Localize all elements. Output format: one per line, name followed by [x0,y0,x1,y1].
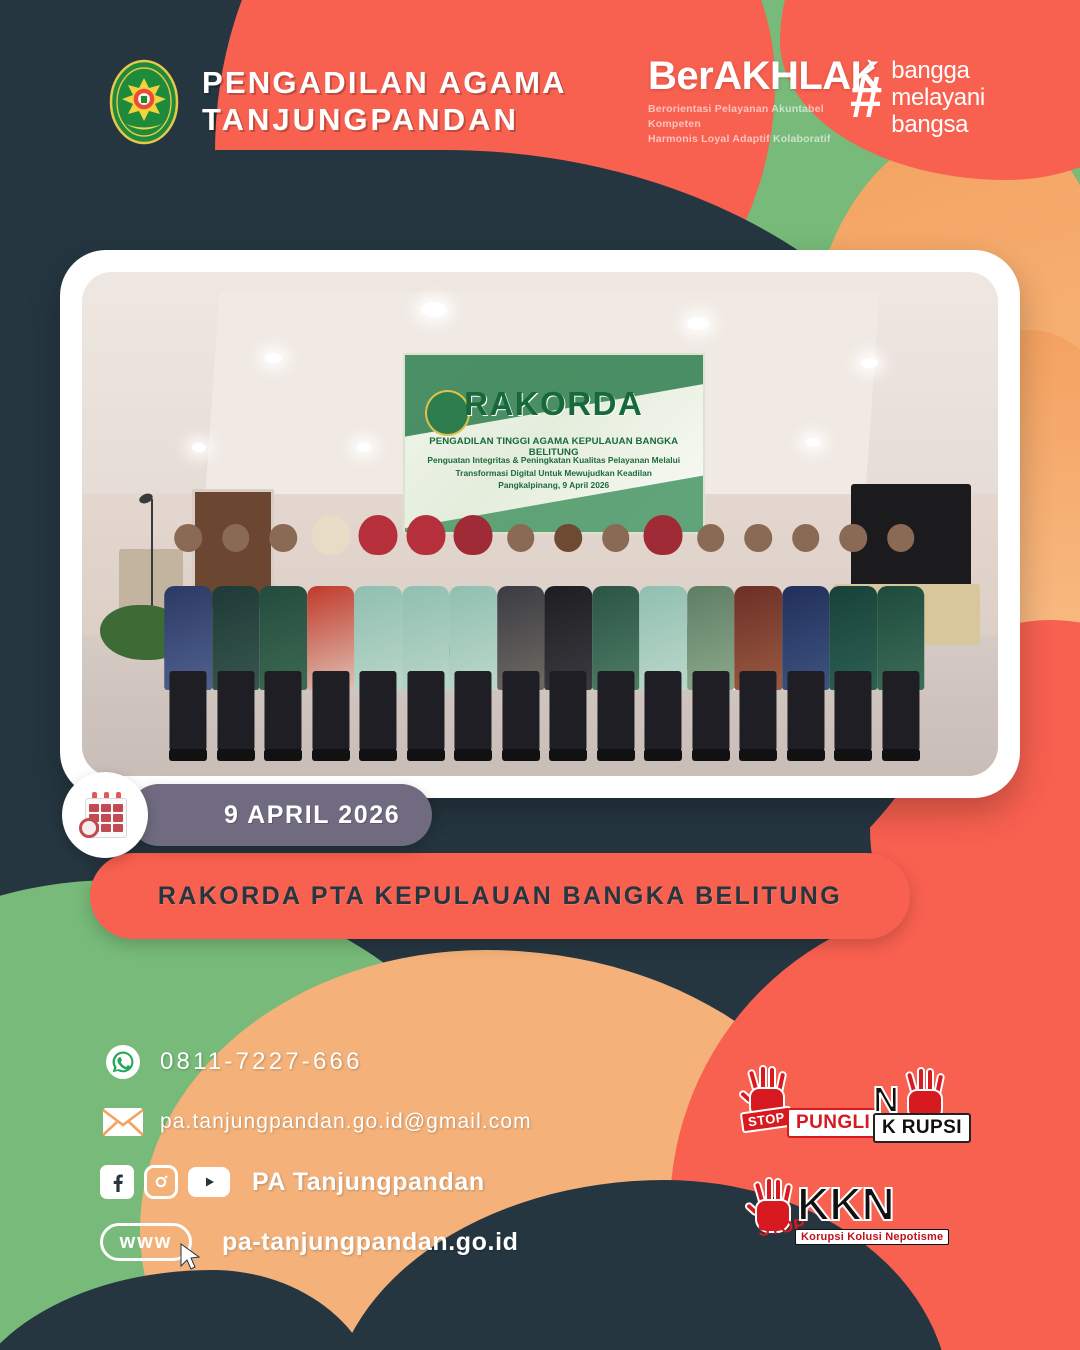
person [164,524,212,761]
whatsapp-icon [100,1043,146,1081]
person [450,524,498,761]
person [592,524,640,761]
person [545,524,593,761]
facebook-icon[interactable] [100,1165,134,1199]
institution-line-2: TANJUNGPANDAN [202,102,567,139]
email-icon [100,1106,146,1138]
person [497,524,545,761]
pungli-label: PUNGLI [787,1108,879,1138]
court-emblem-icon [108,58,180,146]
bangga-line-3: bangsa [891,112,985,139]
berakhlak-tagline: Berorientasi Pelayanan Akuntabel Kompete… [648,102,858,148]
person [687,524,735,761]
korupsi-label: K RUPSI [873,1113,971,1143]
group-photo-people [164,524,924,761]
berakhlak-title: BerAKHLAK › [648,56,858,96]
contact-row-social[interactable]: PA Tanjungpandan [100,1155,532,1209]
backdrop-title: RAKORDA [405,385,703,423]
website-icon: www [100,1223,192,1261]
email-address: pa.tanjungpandan.go.id@gmail.com [160,1110,532,1134]
bangga-lines: bangga melayani bangsa [891,58,985,139]
event-backdrop-banner: RAKORDA PENGADILAN TINGGI AGAMA KEPULAUA… [403,353,705,534]
person [830,524,878,761]
integrity-badges: STOP PUNGLI N K RUPSI STO [735,1065,995,1275]
contact-row-whatsapp[interactable]: 0811-7227-666 [100,1035,532,1089]
person [877,524,925,761]
backdrop-theme-line-2: Transformasi Digital Untuk Mewujudkan Ke… [417,467,691,480]
youtube-icon[interactable] [188,1167,230,1197]
bangga-melayani-bangsa-logo: # bangga melayani bangsa [850,58,985,139]
person [782,524,830,761]
backdrop-theme-line-1: Penguatan Integritas & Peningkatan Kuali… [417,454,691,467]
event-photo-card: RAKORDA PENGADILAN TINGGI AGAMA KEPULAUA… [60,250,1020,798]
berakhlak-logo: BerAKHLAK › Berorientasi Pelayanan Akunt… [648,56,858,148]
bangga-line-1: bangga [891,58,985,85]
header: PENGADILAN AGAMA TANJUNGPANDAN BerAKHLAK… [0,0,1080,190]
institution-line-1: PENGADILAN AGAMA [202,65,567,102]
kkn-word: KKN [797,1181,894,1227]
poster-canvas: PENGADILAN AGAMA TANJUNGPANDAN BerAKHLAK… [0,0,1080,1350]
event-title: RAKORDA PTA KEPULAUAN BANGKA BELITUNG [158,882,842,911]
contact-list: 0811-7227-666 pa.tanjungpandan.go.id@gma… [100,1035,532,1275]
brand-text: PENGADILAN AGAMA TANJUNGPANDAN [202,65,567,138]
person [355,524,403,761]
person [307,524,355,761]
event-title-bar: RAKORDA PTA KEPULAUAN BANGKA BELITUNG [90,853,910,939]
calendar-icon [62,772,148,858]
backdrop-theme-line-3: Pangkalpinang, 9 April 2026 [417,479,691,492]
berakhlak-tagline-line-2: Harmonis Loyal Adaptif Kolaboratif [648,132,858,147]
event-date-text: 9 APRIL 2026 [224,801,400,830]
microphone-stand [151,499,153,610]
event-photo: RAKORDA PENGADILAN TINGGI AGAMA KEPULAUA… [82,272,998,776]
ceiling-light [265,353,282,363]
brand-block: PENGADILAN AGAMA TANJUNGPANDAN [108,58,567,146]
berakhlak-tagline-line-1: Berorientasi Pelayanan Akuntabel Kompete… [648,102,858,132]
contact-row-email[interactable]: pa.tanjungpandan.go.id@gmail.com [100,1095,532,1149]
ceiling-light [861,358,878,368]
berakhlak-title-text: BerAKHLAK [648,54,879,98]
person [259,524,307,761]
person [735,524,783,761]
website-url: pa-tanjungpandan.go.id [222,1228,519,1257]
whatsapp-number: 0811-7227-666 [160,1048,363,1076]
social-handle: PA Tanjungpandan [252,1168,485,1197]
person [640,524,688,761]
person [212,524,260,761]
backdrop-theme: Penguatan Integritas & Peningkatan Kuali… [417,454,691,492]
kkn-subtitle: Korupsi Kolusi Nepotisme [795,1229,949,1245]
contact-row-website[interactable]: www pa-tanjungpandan.go.id [100,1215,532,1269]
event-date-badge: 9 APRIL 2026 [128,784,432,846]
hashtag-icon: # [850,72,882,124]
social-icon-group [100,1165,230,1199]
person [402,524,450,761]
bangga-line-2: melayani [891,85,985,112]
instagram-icon[interactable] [144,1165,178,1199]
www-label: www [120,1231,173,1254]
